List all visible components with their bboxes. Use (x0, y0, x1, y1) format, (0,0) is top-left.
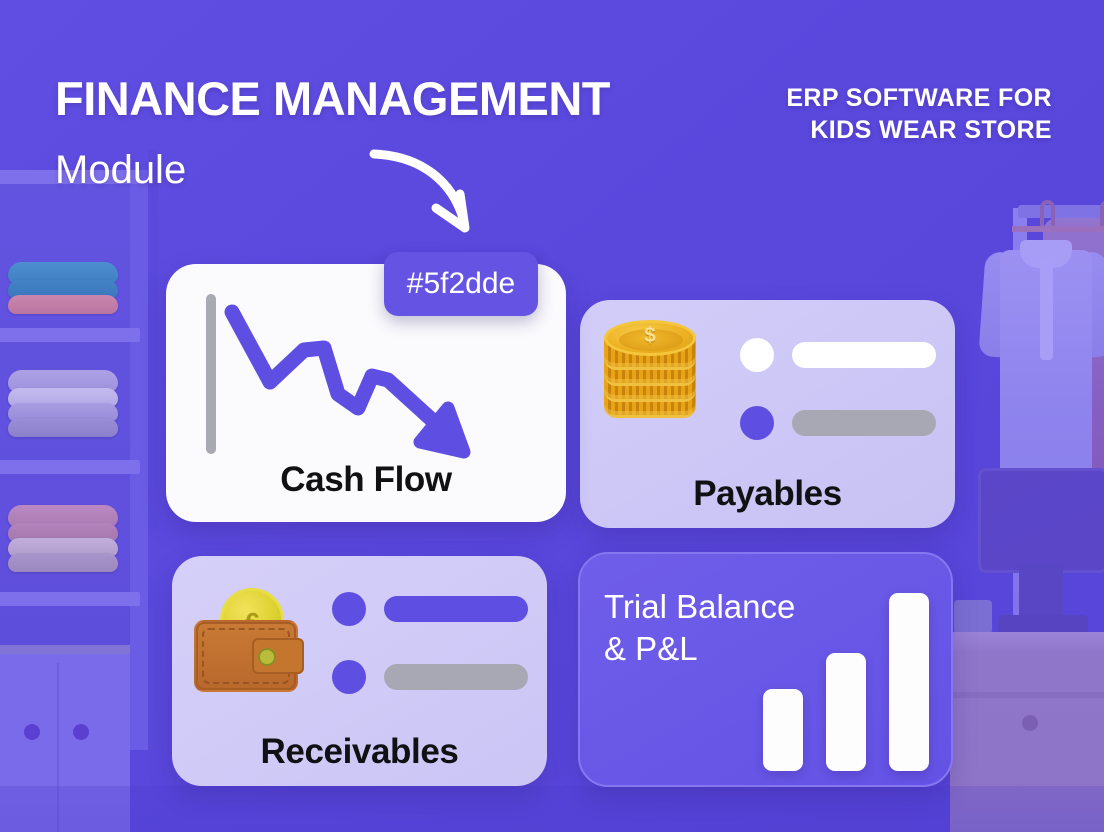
wallet-with-coin-icon: € (194, 588, 306, 693)
card-label-receivables: Receivables (172, 732, 547, 772)
shelf-board (0, 460, 140, 474)
receivables-list (332, 592, 528, 728)
card-receivables[interactable]: € Receivables (172, 556, 547, 786)
coin-top-face: $ (604, 320, 696, 356)
list-bar (384, 596, 528, 622)
shelf-side-panel-outer (148, 150, 158, 750)
tagline: ERP SOFTWARE FOR KIDS WEAR STORE (786, 82, 1052, 146)
list-bar (792, 410, 936, 436)
page-title: FINANCE MANAGEMENT (55, 75, 610, 122)
monitor-screen (978, 468, 1104, 573)
poster-canvas: FINANCE MANAGEMENT Module ERP SOFTWARE F… (0, 0, 1104, 832)
coin-stack-icon: $ (604, 320, 696, 430)
color-code-badge[interactable]: #5f2dde (384, 252, 538, 316)
chart-bar (889, 593, 929, 771)
folded-cloth (8, 295, 118, 314)
folded-cloth (8, 418, 118, 437)
wallet-button (258, 648, 276, 666)
list-bullet-dot (740, 406, 774, 440)
list-item (332, 592, 528, 626)
list-item (740, 338, 936, 372)
list-item (332, 660, 528, 694)
list-bullet-dot (332, 592, 366, 626)
cabinet-knob (24, 724, 40, 740)
cabinet-knob (73, 724, 89, 740)
list-bar (792, 342, 936, 368)
trial-balance-line-2: & P&L (604, 630, 698, 667)
floor (0, 786, 1104, 832)
chart-bar (826, 653, 866, 771)
declining-line-chart-icon (212, 290, 542, 480)
list-bullet-dot (332, 660, 366, 694)
chart-bar (763, 689, 803, 771)
folded-clothes-stack (8, 370, 118, 437)
counter-knob (1022, 715, 1038, 731)
list-bullet-dot (740, 338, 774, 372)
shelf-board (0, 328, 140, 342)
color-code-text: #5f2dde (407, 267, 515, 301)
list-bar (384, 664, 528, 690)
folded-clothes-stack (8, 505, 118, 572)
card-label-cash-flow: Cash Flow (166, 460, 566, 500)
folded-cloth (8, 553, 118, 572)
shirt-placket (1040, 260, 1053, 360)
bar-chart-icon (763, 593, 929, 771)
card-label-payables: Payables (580, 474, 955, 514)
list-item (740, 406, 936, 440)
folded-clothes-stack (8, 262, 118, 314)
payables-list (740, 338, 936, 474)
counter-drawer-line (950, 692, 1104, 698)
curved-arrow-icon (366, 140, 481, 245)
card-payables[interactable]: $ Payables (580, 300, 955, 528)
tagline-line-2: KIDS WEAR STORE (810, 116, 1052, 144)
tagline-line-1: ERP SOFTWARE FOR (786, 84, 1052, 112)
page-subtitle: Module (55, 150, 186, 190)
dollar-sign-icon: $ (607, 325, 693, 346)
shelf-board (0, 592, 140, 606)
counter-box (954, 600, 992, 634)
card-trial-balance[interactable]: Trial Balance & P&L (578, 552, 953, 787)
